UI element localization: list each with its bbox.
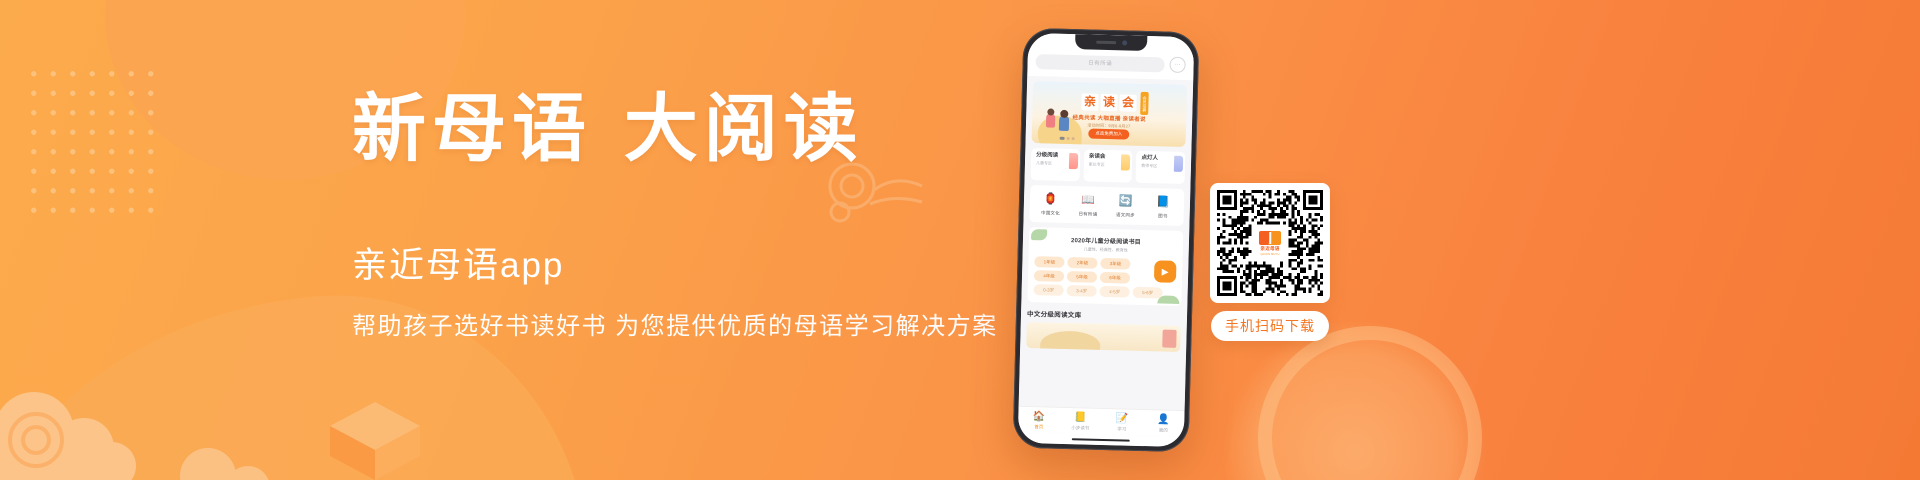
book-icon xyxy=(1069,153,1078,169)
promo-title: 亲 读 会 会员招募 xyxy=(1081,90,1149,115)
tab-label: 首页 xyxy=(1034,424,1043,430)
grade-chip[interactable]: 6年级 xyxy=(1100,272,1130,284)
library-strip[interactable] xyxy=(1026,322,1181,352)
tab-study[interactable]: 📝 学习 xyxy=(1103,414,1141,433)
search-input[interactable]: 日有所诵 xyxy=(1035,54,1164,72)
quick-entry-sync[interactable]: 🔄 语文同步 xyxy=(1108,194,1143,219)
zone-card-parent[interactable]: 亲读会 家长专区 xyxy=(1083,149,1132,182)
grade-chip[interactable]: 3年级 xyxy=(1100,258,1130,270)
banner-copy: 新母语 大阅读 亲近母语app 帮助孩子选好书读好书 为您提供优质的母语学习解决… xyxy=(352,92,1012,339)
age-chip[interactable]: 3-4岁 xyxy=(1067,285,1097,297)
quick-entry-label: 中国文化 xyxy=(1041,210,1060,216)
zone-cards: 分级阅读 儿童专区 亲读会 家长专区 点灯人 教师专区 xyxy=(1031,148,1186,184)
page-title: 新母语 大阅读 xyxy=(352,92,1012,166)
leaf-decoration xyxy=(1157,295,1179,304)
qr-code: 亲近母语 QINJIN MUYU xyxy=(1217,190,1323,296)
quick-entry-books[interactable]: 📘 图书 xyxy=(1146,195,1181,220)
quick-entry-label: 图书 xyxy=(1158,213,1168,219)
tab-label: 我的 xyxy=(1159,427,1168,433)
quick-entry-label: 日有所诵 xyxy=(1078,211,1097,217)
home-icon: 🏠 xyxy=(1033,412,1046,422)
promo-title-char: 亲 xyxy=(1081,93,1098,110)
sync-icon: 🔄 xyxy=(1118,194,1133,209)
quick-entry-daily-recite[interactable]: 📖 日有所诵 xyxy=(1071,193,1106,218)
reading-icon: 📒 xyxy=(1074,413,1087,423)
camera-icon xyxy=(1122,40,1127,45)
tab-label: 小步读书 xyxy=(1071,425,1089,431)
grade-chip[interactable]: 1年级 xyxy=(1034,256,1064,268)
age-chip[interactable]: 0-3岁 xyxy=(1034,284,1064,296)
promo-banner: 新母语 大阅读 亲近母语app 帮助孩子选好书读好书 为您提供优质的母语学习解决… xyxy=(0,0,1920,480)
ring-decoration xyxy=(1258,326,1482,480)
qr-logo-name: 亲近母语 xyxy=(1260,246,1279,252)
tab-reading[interactable]: 📒 小步读书 xyxy=(1061,413,1099,432)
book-open-icon: 📖 xyxy=(1081,193,1096,208)
grade-chip[interactable]: 5年级 xyxy=(1067,271,1097,283)
library-section: 中文分级阅读文库 xyxy=(1026,308,1181,352)
age-chip[interactable]: 5-6岁 xyxy=(1132,287,1162,299)
library-page-decoration xyxy=(1162,330,1176,348)
booklist-subtitle: 儿童性、经典性、教育性 xyxy=(1035,245,1177,255)
carousel-dots[interactable] xyxy=(1060,137,1075,140)
grade-chip[interactable]: 4年级 xyxy=(1034,270,1064,282)
tab-label: 学习 xyxy=(1117,426,1126,432)
zone-card-teacher[interactable]: 点灯人 教师专区 xyxy=(1136,151,1185,184)
cloud-decoration-mid xyxy=(170,436,290,480)
tab-profile[interactable]: 👤 我的 xyxy=(1144,415,1182,434)
library-title: 中文分级阅读文库 xyxy=(1027,308,1181,322)
tab-home[interactable]: 🏠 首页 xyxy=(1020,412,1058,431)
zone-card-graded-reading[interactable]: 分级阅读 儿童专区 xyxy=(1031,148,1080,181)
phone-mockup: 日有所诵 ··· 亲 读 会 会员招募 经典共读 大咖直播 亲读者说 xyxy=(1013,28,1200,452)
carousel-dot[interactable] xyxy=(1072,137,1075,140)
qr-center-logo: 亲近母语 QINJIN MUYU xyxy=(1254,227,1286,259)
promo-title-char: 读 xyxy=(1100,94,1117,111)
quick-entry-chinese-culture[interactable]: 🏮 中国文化 xyxy=(1033,192,1068,217)
library-arc-decoration xyxy=(1040,330,1101,352)
carousel-dot[interactable] xyxy=(1067,137,1070,140)
grade-chip[interactable]: 2年级 xyxy=(1067,257,1097,269)
dot-grid-decoration xyxy=(22,62,160,214)
qr-code-card: 亲近母语 QINJIN MUYU xyxy=(1210,183,1330,303)
profile-icon: 👤 xyxy=(1157,415,1170,425)
cloud-decoration-left xyxy=(0,370,167,480)
message-icon[interactable]: ··· xyxy=(1169,57,1185,73)
study-icon: 📝 xyxy=(1116,414,1129,424)
qr-logo-en: QINJIN MUYU xyxy=(1260,253,1279,256)
bottom-tab-bar: 🏠 首页 📒 小步读书 📝 学习 👤 我的 xyxy=(1018,406,1185,437)
age-chip[interactable]: 4-5岁 xyxy=(1100,286,1130,298)
age-chip-group: 0-3岁 3-4岁 4-5岁 5-6岁 xyxy=(1034,284,1176,299)
phone-content: 日有所诵 ··· 亲 读 会 会员招募 经典共读 大咖直播 亲读者说 xyxy=(1019,33,1195,410)
carousel-dot-active[interactable] xyxy=(1060,137,1065,140)
promo-card[interactable]: 亲 读 会 会员招募 经典共读 大咖直播 亲读者说 活动时间：9月6-9月27 … xyxy=(1032,81,1188,147)
quick-entry-row: 🏮 中国文化 📖 日有所诵 🔄 语文同步 📘 图书 xyxy=(1029,185,1184,226)
grade-chip-group: 1年级 2年级 3年级 4年级 5年级 6年级 xyxy=(1034,256,1151,284)
promo-title-char: 会 xyxy=(1119,94,1136,111)
promo-badge: 会员招募 xyxy=(1140,92,1149,115)
booklist-section: 2020年儿童分级阅读书目 儿童性、经典性、教育性 1年级 2年级 3年级 4年… xyxy=(1027,227,1183,306)
app-name: 亲近母语app xyxy=(352,248,1012,283)
cube-decoration xyxy=(330,402,420,480)
download-button[interactable]: 手机扫码下载 xyxy=(1211,311,1329,341)
book-icon xyxy=(1121,154,1130,170)
book-logo-icon xyxy=(1259,231,1281,245)
speaker-icon xyxy=(1096,41,1116,45)
book-icon xyxy=(1174,156,1183,172)
phone-notch xyxy=(1075,34,1147,51)
banner-tagline: 帮助孩子选好书读好书 为您提供优质的母语学习解决方案 xyxy=(352,315,1012,339)
phone-screen: 日有所诵 ··· 亲 读 会 会员招募 经典共读 大咖直播 亲读者说 xyxy=(1018,33,1195,447)
quick-entry-label: 语文同步 xyxy=(1116,212,1135,218)
promo-join-button[interactable]: 点击免费加入 xyxy=(1088,129,1129,140)
books-icon: 📘 xyxy=(1156,195,1171,210)
play-video-icon[interactable]: ▶ xyxy=(1154,260,1177,283)
lantern-icon: 🏮 xyxy=(1043,192,1058,207)
